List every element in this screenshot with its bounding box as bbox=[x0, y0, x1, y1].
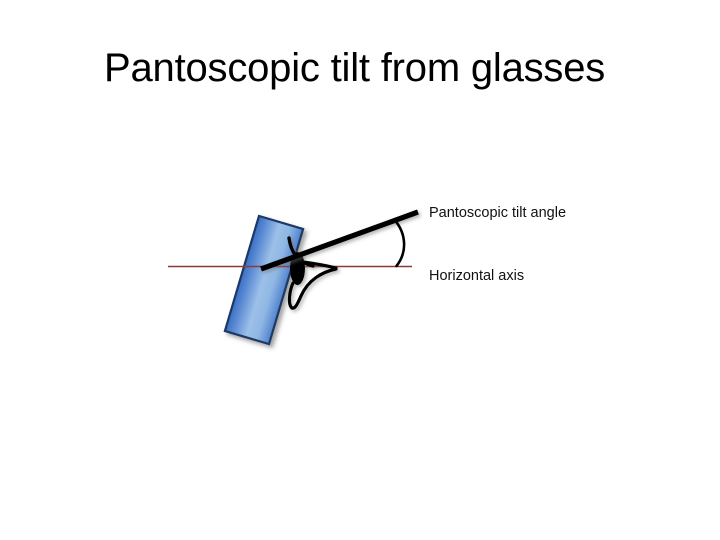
label-horizontal-axis: Horizontal axis bbox=[429, 268, 524, 284]
lens-shape bbox=[225, 216, 303, 344]
angle-arc bbox=[396, 221, 405, 266]
slide-canvas: Pantoscopic tilt from glasses bbox=[0, 0, 720, 540]
label-pantoscopic-tilt-angle: Pantoscopic tilt angle bbox=[429, 205, 566, 221]
pantoscopic-tilt-diagram bbox=[0, 0, 720, 540]
eye-inner-hook bbox=[289, 283, 293, 308]
lens-rectangle bbox=[225, 216, 303, 344]
